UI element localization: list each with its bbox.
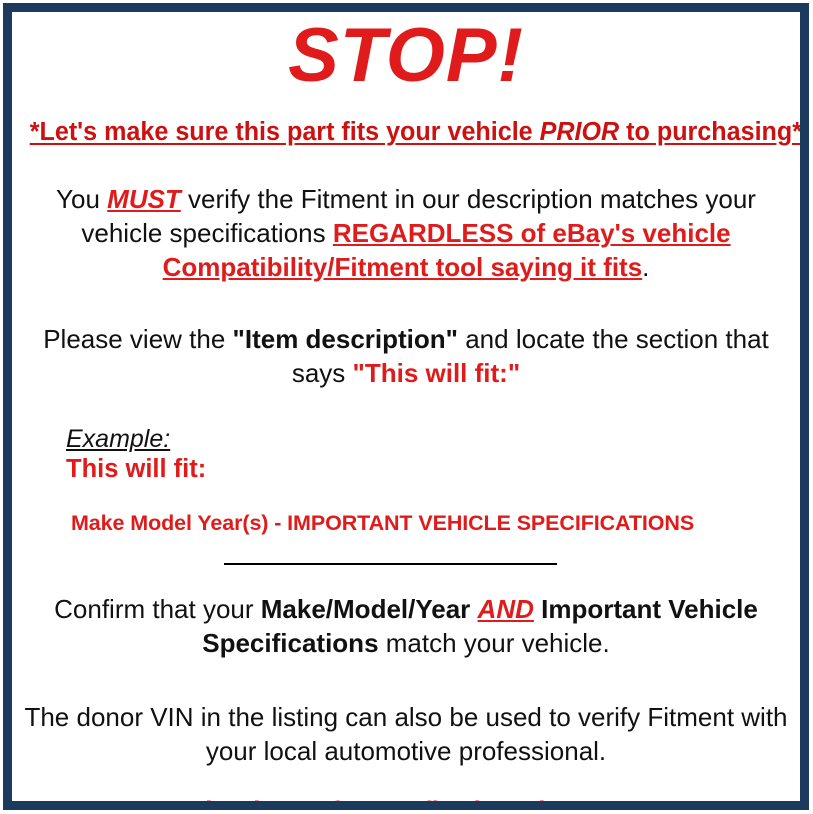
notice-frame: STOP! *Let's make sure this part fits yo… (3, 3, 809, 810)
tagline-text-after: to purchasing* (619, 118, 802, 146)
horizontal-divider (224, 563, 557, 565)
example-spec-line: Make Model Year(s) - IMPORTANT VEHICLE S… (71, 511, 788, 536)
closing-thank-you: Thank you for confirming Fitment! (24, 795, 788, 810)
paragraph-must-verify: You MUST verify the Fitment in our descr… (24, 183, 788, 284)
tagline-text-before: *Let's make sure this part fits your veh… (30, 118, 540, 146)
item-description-emphasis: "Item description" (233, 324, 458, 354)
example-label-row: Example: (66, 424, 788, 454)
example-fit-heading: This will fit: (66, 455, 788, 484)
fitment-notice-page: STOP! *Let's make sure this part fits yo… (0, 0, 813, 814)
divider-wrapper (24, 561, 788, 565)
confirm-segment-2 (470, 594, 477, 624)
tagline-emphasis-prior: PRIOR (540, 118, 620, 146)
stop-heading: STOP! (24, 18, 788, 94)
paragraph-view-description: Please view the "Item description" and l… (24, 323, 788, 391)
make-model-year-emphasis: Make/Model/Year (261, 594, 471, 624)
paragraph-confirm: Confirm that your Make/Model/Year AND Im… (24, 593, 788, 661)
must-emphasis: MUST (107, 184, 181, 214)
this-will-fit-emphasis: "This will fit:" (353, 358, 521, 388)
must-segment-1: You (56, 184, 107, 214)
example-block: Example: This will fit: Make Model Year(… (24, 424, 788, 535)
confirm-segment-1: Confirm that your (54, 594, 261, 624)
tagline: *Let's make sure this part fits your veh… (30, 118, 783, 147)
example-label: Example: (66, 424, 170, 454)
paragraph-donor-vin: The donor VIN in the listing can also be… (24, 701, 788, 769)
view-segment-1: Please view the (43, 324, 232, 354)
must-segment-3: . (642, 252, 649, 282)
and-emphasis: AND (478, 594, 534, 624)
confirm-segment-4: match your vehicle. (379, 628, 610, 658)
